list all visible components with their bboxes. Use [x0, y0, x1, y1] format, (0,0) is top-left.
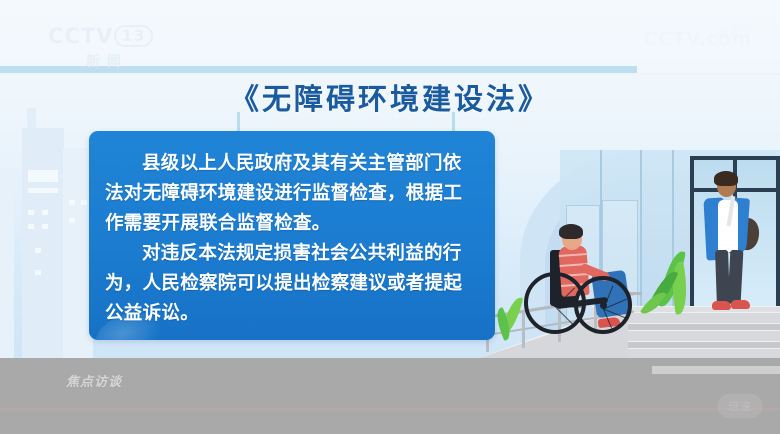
pedestrian-shoe-left [712, 301, 731, 310]
channel-logo: CCTV13 新闻 [48, 24, 160, 68]
playback-speed-button[interactable]: 倍速 [718, 394, 762, 418]
pedestrian-shirt [718, 200, 738, 252]
wheel-spoke [555, 307, 575, 327]
skyline-building-far-left [0, 168, 14, 358]
stair-riser [612, 323, 780, 330]
law-paragraph-1: 县级以上人民政府及其有关主管部门依法对无障碍环境建设进行监督检查，根据工作需要开… [105, 149, 479, 239]
skyline-window [28, 170, 58, 182]
page-title: 《无障碍环境建设法》 [0, 76, 780, 118]
cctv-com-watermark: 央视网 CCTV.com [644, 28, 752, 50]
header-accent-line [0, 73, 780, 75]
sweater-stripe [559, 253, 587, 257]
skyline-window [35, 248, 41, 253]
skyline-window [42, 224, 48, 229]
video-player-screen: CCTV13 新闻 央视网 CCTV.com 《无障碍环境建设法》 县级以上人民… [0, 0, 780, 434]
skyline-window [35, 270, 41, 275]
channel-logo-brand: CCTV [48, 24, 113, 48]
channel-logo-subtitle: 新闻 [48, 51, 160, 71]
law-paragraph-2: 对违反本法规定损害社会公共利益的行为，人民检察院可以提出检察建议或者提起公益诉讼… [105, 239, 479, 329]
stair-step [612, 312, 780, 323]
skyline-building-tall [22, 128, 64, 358]
watermark-domain: CCTV.com [644, 28, 752, 50]
facade-mullion [640, 150, 642, 330]
skyline-window [69, 200, 75, 205]
pedestrian-shoe-right [731, 300, 750, 309]
progress-bar-track[interactable] [0, 408, 780, 410]
watermark-chinese-label: 央视网 [718, 22, 751, 37]
video-frame: CCTV13 新闻 央视网 CCTV.com 《无障碍环境建设法》 县级以上人民… [0, 0, 780, 358]
player-letterbox [0, 358, 780, 434]
wheelchair-wheel-front [574, 276, 632, 334]
wheelchair-user-hair [559, 224, 583, 239]
skyline-window [28, 210, 34, 215]
channel-logo-number: 13 [114, 25, 152, 47]
handrail-post [522, 312, 525, 348]
skyline-window [81, 200, 87, 205]
wheel-spoke [555, 280, 556, 307]
program-name-watermark: 焦点访谈 [66, 371, 122, 390]
law-excerpt-box: 县级以上人民政府及其有关主管部门依法对无障碍环境建设进行监督检查，根据工作需要开… [89, 131, 495, 340]
progress-bar-remaining[interactable] [652, 366, 780, 374]
pedestrian-hair [714, 171, 738, 186]
skyline-window [69, 218, 75, 223]
skyline-window [28, 188, 58, 193]
wheel-spoke [555, 288, 575, 308]
skyline-window [28, 224, 34, 229]
skyline-window [42, 210, 48, 215]
